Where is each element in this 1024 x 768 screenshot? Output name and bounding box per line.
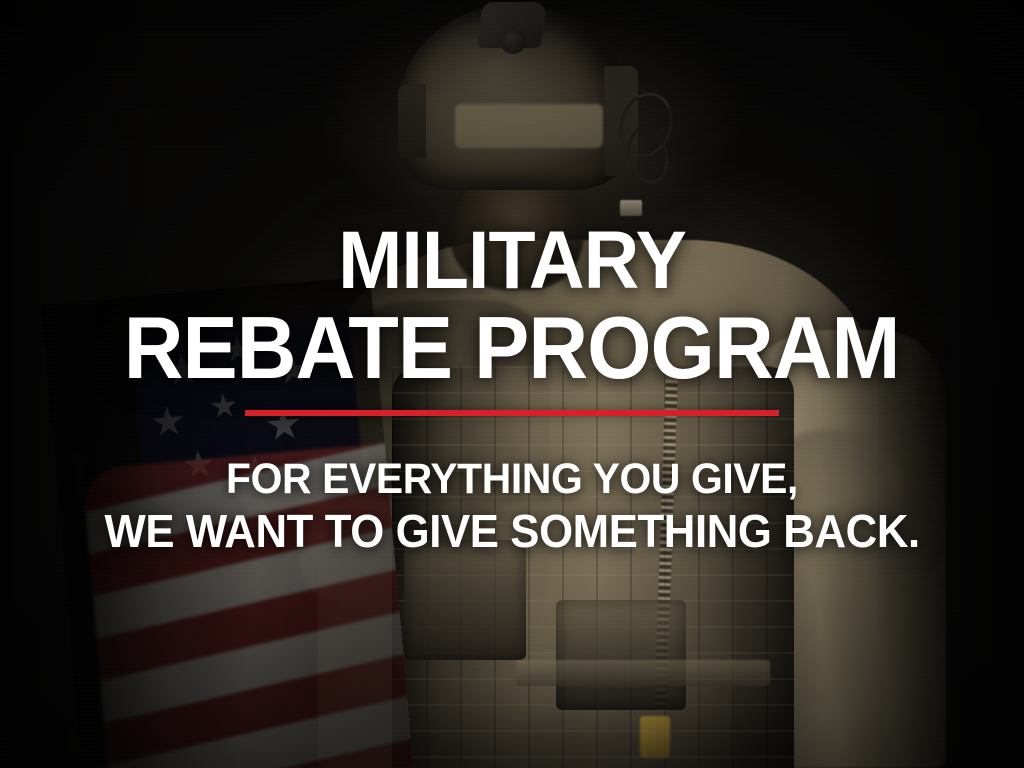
subhead-line-1: FOR EVERYTHING YOU GIVE, bbox=[226, 456, 798, 503]
text-overlay: MILITARY REBATE PROGRAM FOR EVERYTHING Y… bbox=[0, 0, 1024, 768]
red-divider-rule bbox=[245, 410, 779, 416]
military-rebate-banner: MILITARY REBATE PROGRAM FOR EVERYTHING Y… bbox=[0, 0, 1024, 768]
headline-line-2: REBATE PROGRAM bbox=[124, 305, 900, 390]
subhead-line-2: WE WANT TO GIVE SOMETHING BACK. bbox=[104, 506, 919, 557]
headline-line-1: MILITARY bbox=[338, 221, 686, 301]
